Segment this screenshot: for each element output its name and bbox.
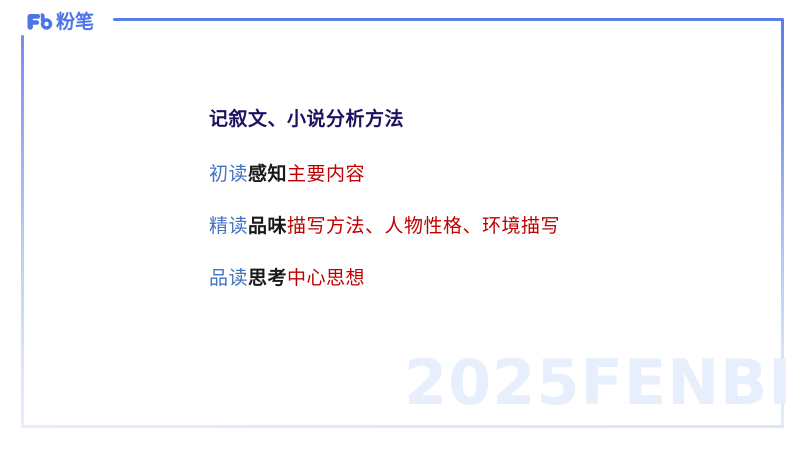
fb-logo-icon <box>27 12 53 32</box>
line-segment-keyword: 初读 <box>209 163 248 185</box>
page-title: 记叙文、小说分析方法 <box>209 110 769 129</box>
brand-logo: 粉笔 <box>27 9 94 35</box>
line-segment-verb: 感知 <box>248 163 287 185</box>
line-segment-object: 主要内容 <box>287 163 365 185</box>
line-segment-verb: 思考 <box>248 267 287 289</box>
frame-bottom-border <box>21 425 784 428</box>
line-segment-keyword: 品读 <box>209 267 248 289</box>
brand-logo-text: 粉笔 <box>56 13 94 32</box>
line-segment-object: 中心思想 <box>287 267 365 289</box>
line-segment-object: 描写方法、人物性格、环境描写 <box>287 215 560 237</box>
watermark-text: 2025FENBI <box>404 352 792 414</box>
slide-canvas: 粉笔 2025FENBI 记叙文、小说分析方法 初读感知主要内容 精读品味描写方… <box>0 0 800 450</box>
frame-left-border <box>21 35 24 428</box>
content-line: 精读品味描写方法、人物性格、环境描写 <box>209 217 769 236</box>
content-line: 初读感知主要内容 <box>209 165 769 184</box>
content-line: 品读思考中心思想 <box>209 269 769 288</box>
line-segment-verb: 品味 <box>248 215 287 237</box>
slide-content: 记叙文、小说分析方法 初读感知主要内容 精读品味描写方法、人物性格、环境描写 品… <box>209 110 769 288</box>
frame-top-border <box>113 18 784 21</box>
line-segment-keyword: 精读 <box>209 215 248 237</box>
